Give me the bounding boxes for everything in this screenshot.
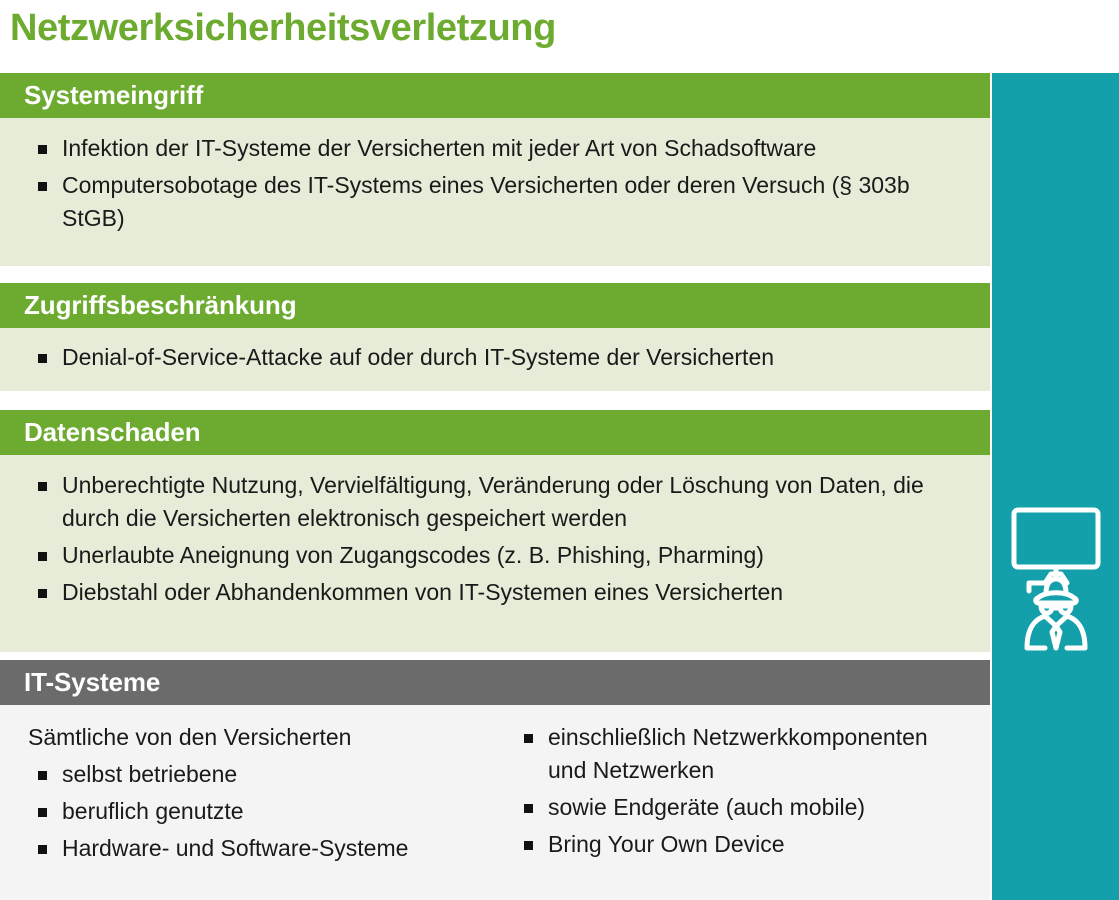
- section-header-systemeingriff: Systemeingriff: [0, 73, 990, 118]
- section-it-systeme: IT-Systeme Sämtliche von den Versicherte…: [0, 660, 990, 900]
- section-body-zugriffsbeschraenkung: Denial-of-Service-Attacke auf oder durch…: [0, 328, 990, 391]
- side-panel: [992, 73, 1119, 900]
- list-item: Unerlaubte Aneignung von Zugangscodes (z…: [22, 539, 968, 572]
- list-item: einschließlich Netzwerkkomponenten und N…: [508, 721, 968, 787]
- two-column-layout: Sämtliche von den Versicherten selbst be…: [22, 721, 968, 865]
- section-header-it-systeme: IT-Systeme: [0, 660, 990, 705]
- list-item: Computersobotage des IT-Systems eines Ve…: [22, 169, 968, 235]
- section-datenschaden: Datenschaden Unberechtigte Nutzung, Verv…: [0, 410, 990, 652]
- column-right: einschließlich Netzwerkkomponenten und N…: [508, 721, 968, 861]
- list-item: Denial-of-Service-Attacke auf oder durch…: [22, 341, 968, 374]
- section-systemeingriff: Systemeingriff Infektion der IT-Systeme …: [0, 73, 990, 266]
- list-item: Hardware- und Software-Systeme: [22, 832, 508, 865]
- section-zugriffsbeschraenkung: Zugriffsbeschränkung Denial-of-Service-A…: [0, 283, 990, 391]
- list-item: selbst betriebene: [22, 758, 508, 791]
- section-body-systemeingriff: Infektion der IT-Systeme der Versicherte…: [0, 118, 990, 266]
- section-header-zugriffsbeschraenkung: Zugriffsbeschränkung: [0, 283, 990, 328]
- list-item: Unberechtigte Nutzung, Vervielfältigung,…: [22, 469, 968, 535]
- monitor-hacker-icon: [1005, 505, 1107, 653]
- section-header-datenschaden: Datenschaden: [0, 410, 990, 455]
- lead-text: Sämtliche von den Versicherten: [22, 721, 508, 754]
- bullet-list-left: selbst betriebene beruflich genutzte Har…: [22, 758, 508, 865]
- bullet-list: Denial-of-Service-Attacke auf oder durch…: [22, 341, 968, 374]
- list-item: Infektion der IT-Systeme der Versicherte…: [22, 132, 968, 165]
- list-item: Bring Your Own Device: [508, 828, 968, 861]
- list-item: sowie Endgeräte (auch mobile): [508, 791, 968, 824]
- list-item: beruflich genutzte: [22, 795, 508, 828]
- bullet-list: Infektion der IT-Systeme der Versicherte…: [22, 132, 968, 235]
- list-item: Diebstahl oder Abhandenkommen von IT-Sys…: [22, 576, 968, 609]
- section-body-datenschaden: Unberechtigte Nutzung, Vervielfältigung,…: [0, 455, 990, 652]
- bullet-list-right: einschließlich Netzwerkkomponenten und N…: [508, 721, 968, 861]
- section-body-it-systeme: Sämtliche von den Versicherten selbst be…: [0, 705, 990, 900]
- bullet-list: Unberechtigte Nutzung, Vervielfältigung,…: [22, 469, 968, 609]
- page-title: Netzwerksicherheitsverletzung: [10, 2, 950, 60]
- column-left: Sämtliche von den Versicherten selbst be…: [22, 721, 508, 865]
